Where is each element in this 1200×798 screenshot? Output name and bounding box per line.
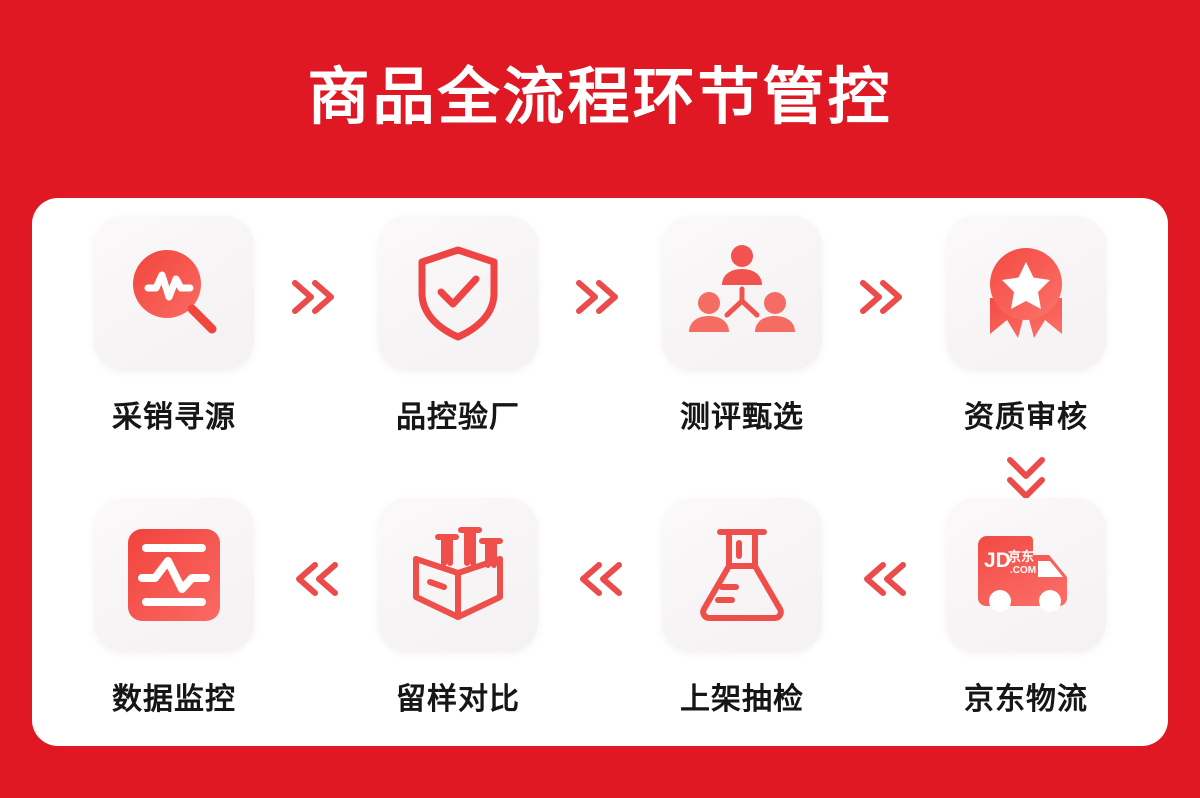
flask-icon (692, 523, 792, 627)
step-label: 测评甄选 (680, 392, 804, 436)
flow-step-liuyang-duibi[interactable]: 留样对比 (316, 498, 600, 718)
flow-step-caixiao-xunyuan[interactable]: 采销寻源 (32, 216, 316, 436)
icon-tile (378, 498, 538, 652)
flow-panel: 采销寻源 品控验厂 (32, 198, 1168, 746)
flow-row-top: 采销寻源 品控验厂 (32, 216, 1168, 436)
truck-brand-cn: 京东 (1008, 549, 1034, 564)
flow-step-shuju-jiankong[interactable]: 数据监控 (32, 498, 316, 718)
jd-delivery-truck-icon: JD 京东 .COM (970, 531, 1082, 619)
flow-row-bottom: 数据监控 (32, 498, 1168, 718)
flow-step-ceping-zhenxuan[interactable]: 测评甄选 (600, 216, 884, 436)
step-label: 数据监控 (112, 674, 236, 718)
step-label: 留样对比 (396, 674, 520, 718)
flow-step-pinkong-yanchang[interactable]: 品控验厂 (316, 216, 600, 436)
icon-tile (94, 216, 254, 370)
flow-step-jingdong-wuliu[interactable]: JD 京东 .COM 京东物流 (884, 498, 1168, 718)
step-label: 采销寻源 (112, 392, 236, 436)
icon-tile (378, 216, 538, 370)
step-label: 上架抽检 (680, 674, 804, 718)
step-label: 京东物流 (964, 674, 1088, 718)
flow-step-zizhi-shenhe[interactable]: 资质审核 (884, 216, 1168, 436)
sample-crate-icon (406, 525, 510, 625)
medal-star-icon (976, 242, 1076, 344)
magnifier-pulse-icon (122, 241, 226, 345)
step-label: 资质审核 (964, 392, 1088, 436)
truck-brand-domain: .COM (1010, 565, 1036, 576)
data-monitor-icon (125, 526, 223, 624)
step-label: 品控验厂 (396, 392, 520, 436)
page-title: 商品全流程环节管控 (0, 64, 1200, 132)
icon-tile (946, 216, 1106, 370)
flow-step-shangjia-chouj[interactable]: 上架抽检 (600, 498, 884, 718)
icon-tile (662, 498, 822, 652)
team-network-icon (689, 243, 795, 343)
icon-tile (94, 498, 254, 652)
icon-tile: JD 京东 .COM (946, 498, 1106, 652)
shield-check-icon (408, 241, 508, 345)
flow-grid: 采销寻源 品控验厂 (32, 198, 1168, 746)
truck-brand-latin: JD (984, 549, 1011, 572)
icon-tile (662, 216, 822, 370)
